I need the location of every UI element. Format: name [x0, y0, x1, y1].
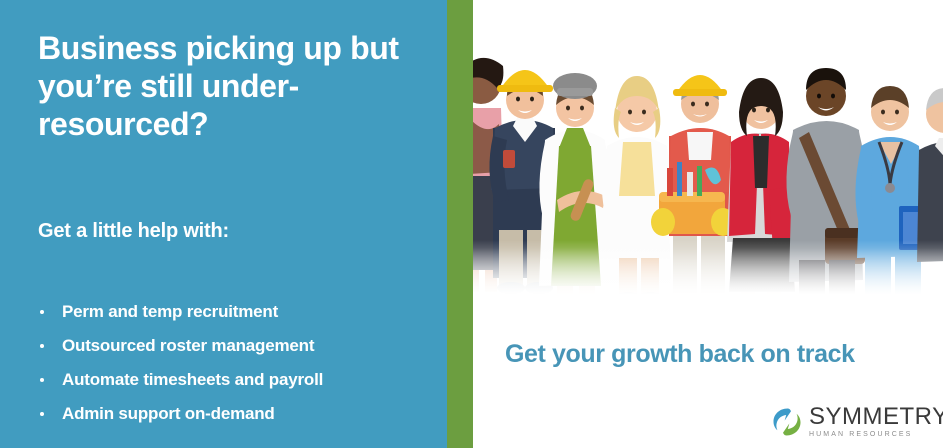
promotional-banner: Business picking up but you’re still und… [0, 0, 943, 448]
list-item: Automate timesheets and payroll [38, 363, 438, 397]
list-item: Outsourced roster management [38, 329, 438, 363]
logo-subtitle: HUMAN RESOURCES [809, 430, 943, 440]
list-item: Admin support on-demand [38, 397, 438, 431]
left-content-panel: Business picking up but you’re still und… [0, 0, 447, 448]
right-content-panel: Get your growth back on track SYMMETRY H… [473, 0, 943, 448]
symmetry-swirl-icon [771, 406, 803, 438]
symmetry-logo[interactable]: SYMMETRY HUMAN RESOURCES [771, 404, 931, 442]
logo-name: SYMMETRY [809, 404, 943, 430]
subheadline: Get a little help with: [38, 220, 229, 243]
green-divider [447, 0, 473, 448]
list-item-label: Admin support on-demand [62, 404, 275, 423]
benefits-list: Perm and temp recruitment Outsourced ros… [38, 295, 438, 431]
headline: Business picking up but you’re still und… [38, 30, 433, 143]
list-item-label: Perm and temp recruitment [62, 302, 278, 321]
list-item-label: Automate timesheets and payroll [62, 370, 323, 389]
bullet-dot-icon [40, 344, 44, 348]
tagline: Get your growth back on track [505, 340, 855, 369]
list-item: Perm and temp recruitment [38, 295, 438, 329]
workers-group-photo [473, 0, 943, 310]
list-item-label: Outsourced roster management [62, 336, 314, 355]
bullet-dot-icon [40, 310, 44, 314]
bullet-dot-icon [40, 412, 44, 416]
logo-wordmark: SYMMETRY HUMAN RESOURCES [809, 404, 943, 440]
bullet-dot-icon [40, 378, 44, 382]
